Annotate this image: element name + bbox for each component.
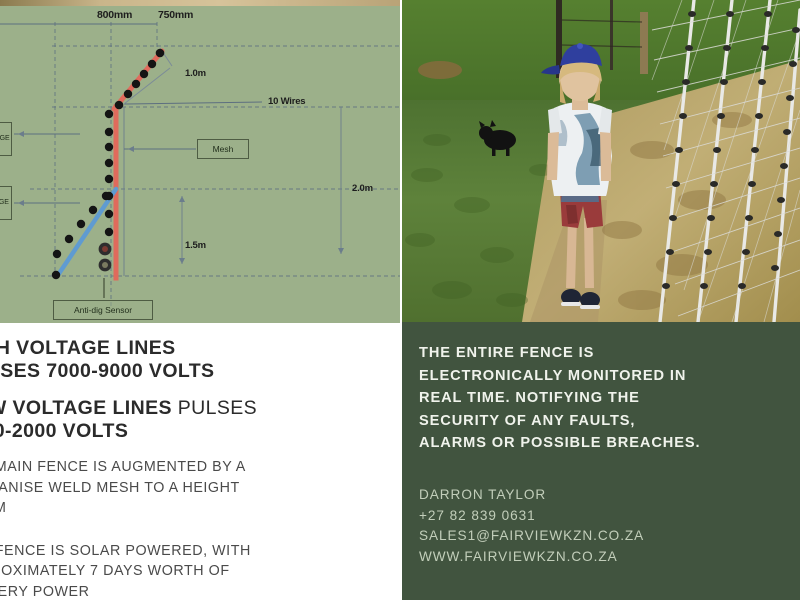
low-voltage-spec: LOW VOLTAGE LINES PULSES 1000-2000 VOLTS — [0, 397, 380, 443]
mesh-augmentation-paragraph: THE MAIN FENCE IS AUGMENTED BY A GALVANI… — [0, 457, 380, 519]
contact-email[interactable]: SALES1@FAIRVIEWKZN.CO.ZA — [419, 526, 784, 547]
annotation-outrigger-height: 1.0m — [185, 68, 206, 79]
mesh-paragraph-line-2: GALVANISE WELD MESH TO A HEIGHT — [0, 478, 380, 499]
contact-name: DARRON TAYLOR — [419, 485, 784, 506]
fence-photograph — [402, 0, 800, 322]
low-voltage-callout-box: LOW VOLTAGE — [0, 186, 12, 220]
monitoring-panel: THE ENTIRE FENCE IS ELECTRONICALLY MONIT… — [402, 322, 800, 600]
solar-paragraph-line-3: BATTERY POWER — [0, 582, 380, 600]
annotation-wire-count: 10 Wires — [268, 96, 305, 107]
monitoring-headline-line-2: ELECTRONICALLY MONITORED IN — [419, 365, 784, 388]
dimension-800mm: 800mm — [97, 9, 132, 21]
monitoring-headline-line-3: REAL TIME. NOTIFYING THE — [419, 387, 784, 410]
contact-phone[interactable]: +27 82 839 0631 — [419, 506, 784, 527]
anti-dig-sensor-label-box: Anti-dig Sensor — [53, 300, 153, 320]
dimension-750mm: 750mm — [158, 9, 193, 21]
fence-diagram-panel: 800mm 750mm 1.0m 10 Wires 2.0m 1.5m Mesh… — [0, 6, 400, 323]
monitoring-headline-line-4: SECURITY OF ANY FAULTS, — [419, 410, 784, 433]
annotation-total-height: 2.0m — [352, 183, 373, 194]
paragraph-spacer — [0, 519, 380, 541]
low-voltage-spec-line1-rest: PULSES — [172, 397, 257, 419]
specifications-panel: HIGH VOLTAGE LINES PULSES 7000-9000 VOLT… — [0, 323, 400, 600]
photo-illustration — [402, 0, 800, 322]
annotation-mesh-height: 1.5m — [185, 240, 206, 251]
mesh-label-box: Mesh — [197, 139, 249, 159]
contact-block: DARRON TAYLOR +27 82 839 0631 SALES1@FAI… — [419, 485, 784, 568]
contact-website[interactable]: WWW.FAIRVIEWKZN.CO.ZA — [419, 547, 784, 568]
low-voltage-spec-line1: LOW VOLTAGE LINES PULSES — [0, 397, 380, 420]
mesh-paragraph-line-1: THE MAIN FENCE IS AUGMENTED BY A — [0, 457, 380, 478]
monitoring-headline-line-5: ALARMS OR POSSIBLE BREACHES. — [419, 432, 784, 455]
solar-power-paragraph: THE FENCE IS SOLAR POWERED, WITH APPROXI… — [0, 541, 380, 600]
solar-paragraph-line-2: APPROXIMATELY 7 DAYS WORTH OF — [0, 561, 380, 582]
low-voltage-spec-line2: 1000-2000 VOLTS — [0, 420, 380, 443]
high-voltage-spec-line1: HIGH VOLTAGE LINES — [0, 337, 380, 360]
monitoring-headline: THE ENTIRE FENCE IS ELECTRONICALLY MONIT… — [419, 342, 784, 455]
high-voltage-callout-box: HIGH VOLTAGE — [0, 122, 12, 156]
high-voltage-spec: HIGH VOLTAGE LINES PULSES 7000-9000 VOLT… — [0, 337, 380, 383]
high-voltage-spec-line2: PULSES 7000-9000 VOLTS — [0, 360, 380, 383]
solar-paragraph-line-1: THE FENCE IS SOLAR POWERED, WITH — [0, 541, 380, 562]
poster-root: 800mm 750mm 1.0m 10 Wires 2.0m 1.5m Mesh… — [0, 0, 800, 600]
fence-cross-section-diagram — [0, 6, 400, 323]
monitoring-headline-line-1: THE ENTIRE FENCE IS — [419, 342, 784, 365]
low-voltage-spec-line1-strong: LOW VOLTAGE LINES — [0, 397, 172, 419]
mesh-paragraph-line-3: OF 2M — [0, 498, 380, 519]
